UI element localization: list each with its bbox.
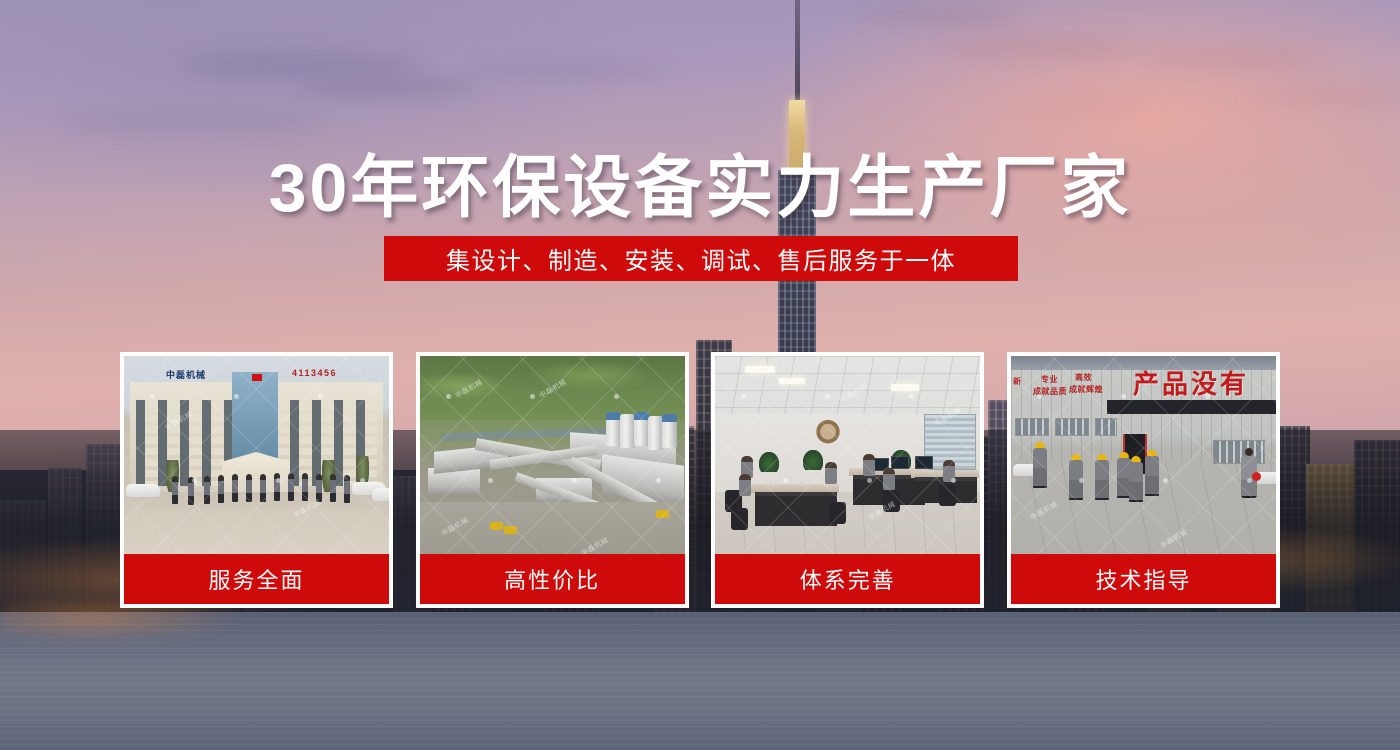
plant-yard: [420, 502, 685, 554]
factory-workers-training-photo: 产品没有 新 专业 成就品质 高效 成就辉煌: [1011, 356, 1276, 554]
staff-member: [204, 476, 210, 504]
worker-with-helmet: [1145, 450, 1159, 496]
worker-body: [1095, 460, 1109, 500]
staff-member: [232, 474, 238, 502]
factory-window: [1095, 418, 1117, 436]
storage-silo: [634, 412, 649, 446]
office-building-staff-photo: 中磊机械 4113456: [124, 356, 389, 554]
supervisor-head: [1245, 448, 1253, 456]
slogan-text: 高效: [1075, 372, 1092, 383]
office-interior-staff-photo: 中磊机械 中磊机械 中磊机械: [715, 356, 980, 554]
feature-card[interactable]: 中磊机械 中磊机械 中磊机械 体系完善: [711, 352, 984, 608]
staff-member: [330, 474, 336, 502]
subtitle-text: 集设计、制造、安装、调试、售后服务于一体: [446, 241, 956, 276]
staff-member: [218, 475, 224, 503]
worker-body: [1129, 462, 1143, 502]
office-worker: [739, 474, 751, 496]
computer-monitor: [915, 456, 933, 469]
slogan-text: 成就品质: [1033, 386, 1067, 397]
card-caption: 体系完善: [715, 554, 980, 604]
office-chair: [883, 490, 900, 512]
potted-plant: [759, 452, 779, 472]
staff-member: [246, 474, 252, 502]
card-caption: 高性价比: [420, 554, 685, 604]
staff-member: [316, 474, 322, 502]
storage-silo: [620, 414, 635, 448]
parked-car: [126, 484, 160, 497]
feature-card[interactable]: 产品没有 新 专业 成就品质 高效 成就辉煌: [1007, 352, 1280, 608]
office-chair: [829, 502, 846, 524]
promotional-banner: 30年环保设备实力生产厂家 集设计、制造、安装、调试、售后服务于一体 中磊机械 …: [0, 0, 1400, 750]
page-title: 30年环保设备实力生产厂家: [0, 132, 1400, 231]
staff-member: [260, 474, 266, 502]
company-phone-text: 4113456: [292, 368, 337, 378]
staff-member: [188, 477, 194, 505]
staff-member: [302, 473, 308, 501]
water-light-reflection: [0, 600, 420, 670]
office-worker: [863, 454, 875, 476]
office-chair: [731, 508, 748, 530]
feature-card-row: 中磊机械 4113456: [120, 352, 1280, 608]
factory-window: [1055, 418, 1089, 436]
excavator: [490, 522, 503, 530]
staff-member: [344, 475, 350, 503]
factory-sign-text: 产品没有: [1133, 364, 1249, 401]
storage-silo: [662, 414, 677, 448]
parked-car: [372, 488, 389, 501]
ceiling-light: [891, 384, 919, 391]
staff-member: [288, 473, 294, 501]
worker-body: [1069, 460, 1083, 500]
ceiling-light: [779, 378, 805, 384]
card-caption: 服务全面: [124, 554, 389, 604]
feature-card[interactable]: 中磊机械 中磊机械 中磊机械 中磊机械 高性价比: [416, 352, 689, 608]
office-worker: [883, 468, 895, 490]
worker-body: [1145, 456, 1159, 496]
storage-silo: [606, 412, 621, 446]
potted-plant: [803, 450, 823, 470]
slogan-text: 新: [1013, 376, 1022, 387]
worker-with-helmet: [1069, 454, 1083, 500]
flag-icon: [252, 374, 262, 381]
desk: [755, 492, 837, 526]
supervisor: [1241, 448, 1257, 498]
card-caption: 技术指导: [1011, 554, 1276, 604]
staff-member: [172, 476, 178, 504]
worker-body: [1033, 448, 1047, 488]
office-worker: [825, 462, 837, 484]
staff-member: [274, 473, 280, 501]
excavator: [504, 526, 517, 534]
ceiling-light: [745, 366, 775, 373]
tower-antenna: [795, 0, 800, 110]
office-worker: [943, 460, 955, 482]
worker-with-helmet: [1033, 442, 1047, 488]
subtitle-banner: 集设计、制造、安装、调试、售后服务于一体: [384, 236, 1018, 281]
office-chair: [939, 484, 956, 506]
company-sign-text: 中磊机械: [166, 368, 206, 381]
red-helmet-icon: [1252, 472, 1261, 481]
computer-monitor: [891, 456, 909, 469]
factory-window: [1015, 418, 1049, 436]
storage-silo: [648, 416, 663, 450]
wall-logo-decal: [815, 420, 841, 446]
slogan-text: 专业: [1041, 374, 1058, 385]
excavator: [656, 510, 669, 518]
factory-yard: [1011, 460, 1276, 554]
wall-signage-strip: [1107, 400, 1276, 414]
worker-with-helmet: [1095, 454, 1109, 500]
feature-card[interactable]: 中磊机械 4113456: [120, 352, 393, 608]
slogan-text: 成就辉煌: [1069, 384, 1103, 395]
aerial-industrial-plant-photo: 中磊机械 中磊机械 中磊机械 中磊机械: [420, 356, 685, 554]
worker-with-helmet: [1129, 456, 1143, 502]
